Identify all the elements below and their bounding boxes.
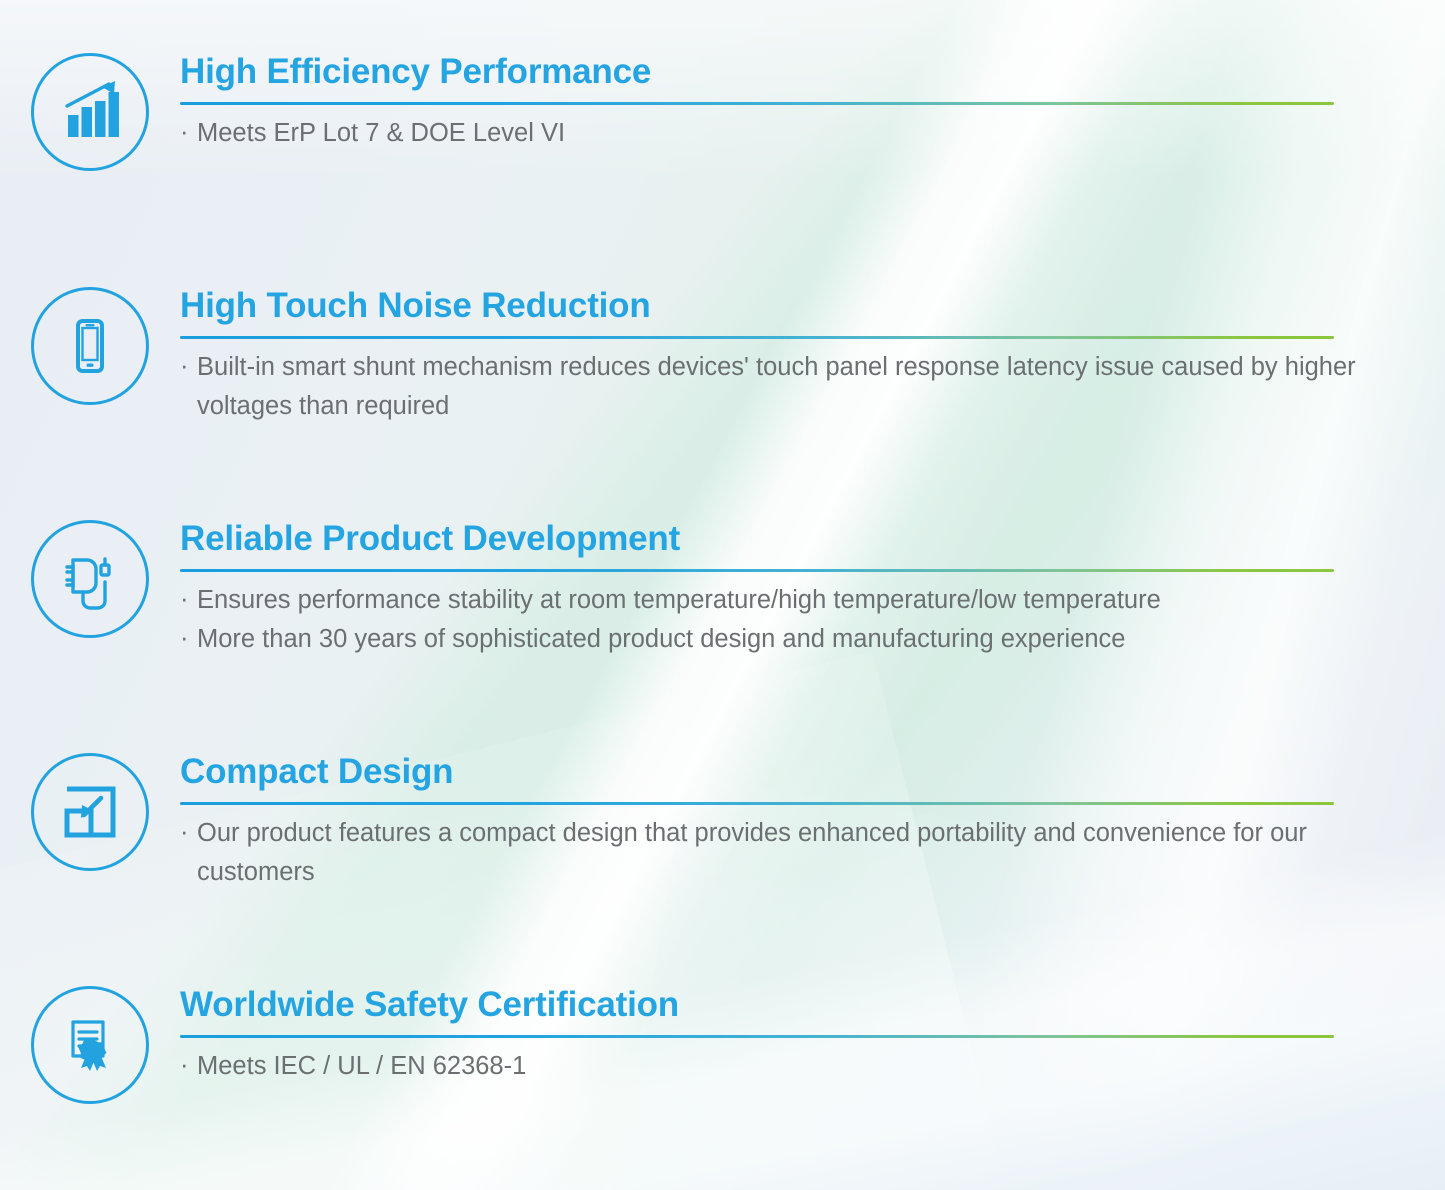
feature-title: Reliable Product Development [180, 520, 1365, 558]
feature-bullets: Built-in smart shunt mechanism reduces d… [180, 348, 1365, 426]
feature-bullets: Meets IEC / UL / EN 62368-1 [180, 1047, 1365, 1086]
feature-item-worldwide-safety-certification: Worldwide Safety Certification Meets IEC… [0, 986, 1445, 1104]
feature-title: High Touch Noise Reduction [180, 287, 1365, 325]
feature-divider [180, 1035, 1334, 1038]
feature-icon-wrap [0, 287, 180, 405]
feature-icon-wrap [0, 753, 180, 871]
feature-bullets: Meets ErP Lot 7 & DOE Level VI [180, 114, 1365, 153]
feature-item-high-touch-noise-reduction: High Touch Noise Reduction Built-in smar… [0, 287, 1445, 425]
feature-item-reliable-product-development: Reliable Product Development Ensures per… [0, 520, 1445, 658]
feature-body: Reliable Product Development Ensures per… [180, 520, 1445, 658]
feature-highlights-page: High Efficiency Performance Meets ErP Lo… [0, 0, 1445, 1190]
power-adapter-icon [31, 520, 149, 638]
bullet-item: Meets ErP Lot 7 & DOE Level VI [180, 114, 1365, 153]
bullet-item: Built-in smart shunt mechanism reduces d… [180, 348, 1365, 426]
feature-bullets: Ensures performance stability at room te… [180, 581, 1365, 659]
feature-title: High Efficiency Performance [180, 53, 1365, 91]
feature-divider [180, 569, 1334, 572]
feature-divider [180, 336, 1334, 339]
feature-bullets: Our product features a compact design th… [180, 814, 1365, 892]
feature-body: Worldwide Safety Certification Meets IEC… [180, 986, 1445, 1086]
feature-icon-wrap [0, 53, 180, 171]
feature-body: High Efficiency Performance Meets ErP Lo… [180, 53, 1445, 153]
bullet-item: Our product features a compact design th… [180, 814, 1365, 892]
feature-icon-wrap [0, 986, 180, 1104]
feature-icon-wrap [0, 520, 180, 638]
bullet-item: Ensures performance stability at room te… [180, 581, 1365, 620]
feature-divider [180, 802, 1334, 805]
feature-item-compact-design: Compact Design Our product features a co… [0, 753, 1445, 891]
smartphone-icon [31, 287, 149, 405]
bullet-item: More than 30 years of sophisticated prod… [180, 620, 1365, 659]
feature-body: Compact Design Our product features a co… [180, 753, 1445, 891]
feature-body: High Touch Noise Reduction Built-in smar… [180, 287, 1445, 425]
feature-item-high-efficiency-performance: High Efficiency Performance Meets ErP Lo… [0, 53, 1445, 171]
certificate-award-icon [31, 986, 149, 1104]
compact-resize-icon [31, 753, 149, 871]
bullet-item: Meets IEC / UL / EN 62368-1 [180, 1047, 1365, 1086]
feature-title: Worldwide Safety Certification [180, 986, 1365, 1024]
feature-title: Compact Design [180, 753, 1365, 791]
bar-chart-growth-icon [31, 53, 149, 171]
feature-divider [180, 102, 1334, 105]
